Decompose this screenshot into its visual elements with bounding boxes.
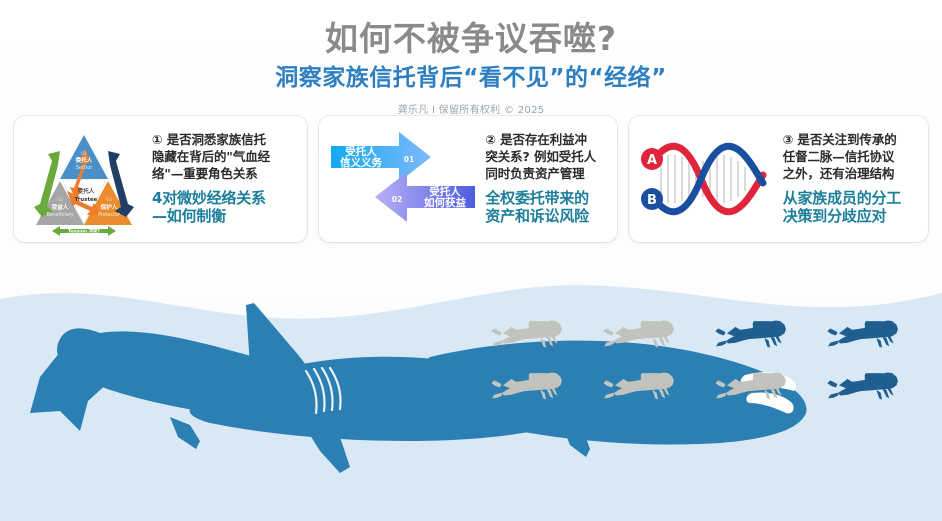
card-conflict-text: ② 是否存在利益冲 突关系? 例如受托人 同时负责资产管理 全权委托带来的 资产… bbox=[479, 132, 608, 225]
svg-text:A: A bbox=[647, 153, 657, 168]
card-highlight: 全权委托带来的 资产和诉讼风险 bbox=[485, 189, 608, 226]
card-highlight: 从家族成员的分工 决策到分歧应对 bbox=[783, 189, 920, 226]
svg-text:委托人: 委托人 bbox=[76, 156, 93, 164]
svg-text:01: 01 bbox=[404, 155, 414, 164]
card-description: ① 是否洞悉家族信托 隐藏在背后的"气血经 络"—重要角色关系 bbox=[152, 132, 299, 182]
svg-text:B: B bbox=[647, 193, 657, 208]
page-subtitle: 洞察家族信托背后“看不见”的“经络” bbox=[0, 65, 942, 93]
svg-text:01: 01 bbox=[81, 151, 87, 157]
svg-text:受益人: 受益人 bbox=[52, 203, 69, 211]
svg-text:Protector: Protector bbox=[98, 212, 120, 218]
copyright-byline: 龚乐凡 I 保留所有权利 © 2025 bbox=[0, 101, 942, 116]
svg-text:Settlor: Settlor bbox=[76, 165, 94, 171]
card-description: ② 是否存在利益冲 突关系? 例如受托人 同时负责资产管理 bbox=[485, 132, 608, 182]
svg-text:Beneficiary: Beneficiary bbox=[47, 212, 74, 218]
trust-roles-triangle-icon: 01 委托人 Settlor 受托人 Trustee 02 受益人 Benefi… bbox=[22, 121, 146, 237]
ocean-illustration bbox=[0, 261, 942, 521]
svg-text:保护人: 保护人 bbox=[100, 203, 118, 211]
svg-text:03: 03 bbox=[106, 197, 112, 203]
card-conflict-arrows[interactable]: 受托人 信义义务 01 受托人 如何获益 02 ② 是否存在利益冲 突关系? 例… bbox=[319, 116, 616, 242]
slide-header: 如何不被争议吞噬? 洞察家族信托背后“看不见”的“经络” 龚乐凡 I 保留所有权… bbox=[0, 0, 942, 116]
cards-row: 01 委托人 Settlor 受托人 Trustee 02 受益人 Benefi… bbox=[14, 116, 928, 242]
svg-text:Tension 冲突?: Tension 冲突? bbox=[68, 228, 100, 235]
slide-canvas: 如何不被争议吞噬? 洞察家族信托背后“看不见”的“经络” 龚乐凡 I 保留所有权… bbox=[0, 0, 942, 521]
svg-text:Trustee: Trustee bbox=[75, 197, 98, 203]
svg-text:02: 02 bbox=[57, 197, 63, 203]
card-roles-triangle[interactable]: 01 委托人 Settlor 受托人 Trustee 02 受益人 Benefi… bbox=[14, 116, 307, 242]
card-highlight: 4对微妙经络关系 —如何制衡 bbox=[152, 189, 299, 226]
card-dna-text: ③ 是否关注到传承的 任督二脉—信托协议 之外，还有治理结构 从家族成员的分工 … bbox=[777, 132, 920, 225]
dna-double-helix-icon: A B bbox=[637, 131, 777, 227]
card-dna-governance[interactable]: A B ③ 是否关注到传承的 任督二脉—信托协议 之外，还有治理结构 从家族成员… bbox=[629, 116, 928, 242]
two-opposing-arrows-icon: 受托人 信义义务 01 受托人 如何获益 02 bbox=[327, 124, 479, 234]
page-title: 如何不被争议吞噬? bbox=[0, 20, 942, 58]
card-roles-text: ① 是否洞悉家族信托 隐藏在背后的"气血经 络"—重要角色关系 4对微妙经络关系… bbox=[146, 132, 299, 225]
svg-text:02: 02 bbox=[392, 195, 402, 204]
svg-text:信义义务: 信义义务 bbox=[340, 156, 382, 169]
svg-text:受托人: 受托人 bbox=[78, 187, 95, 195]
svg-text:如何获益: 如何获益 bbox=[424, 196, 466, 209]
card-description: ③ 是否关注到传承的 任督二脉—信托协议 之外，还有治理结构 bbox=[783, 132, 920, 182]
